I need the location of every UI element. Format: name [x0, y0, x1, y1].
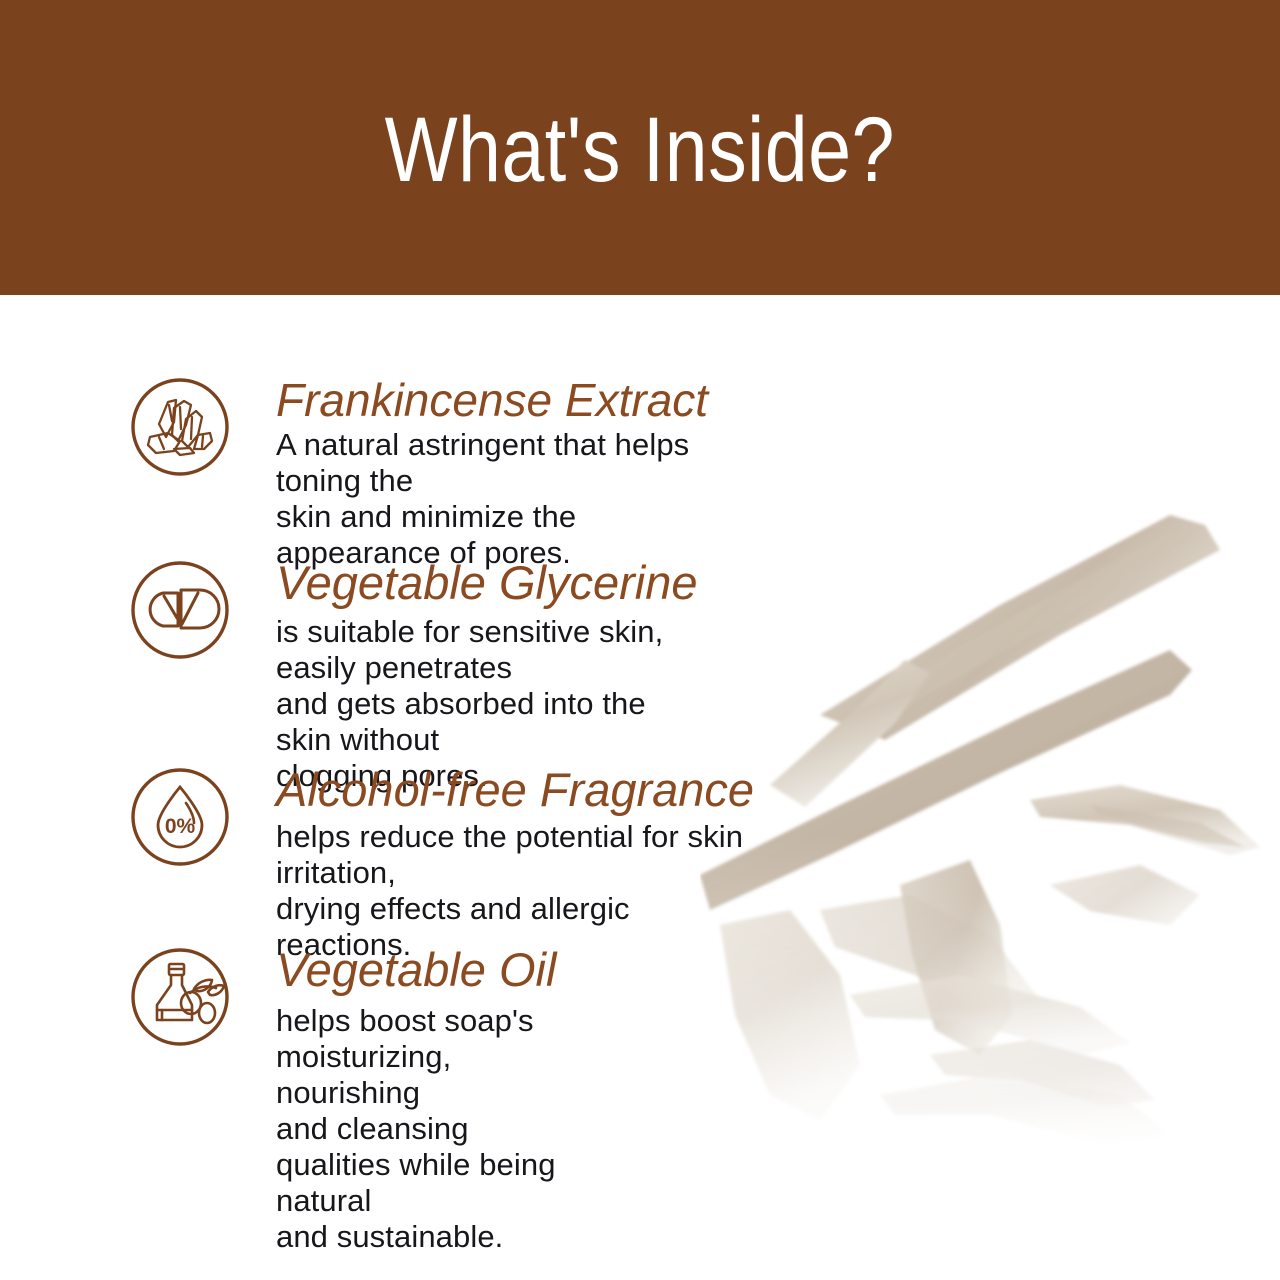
- ingredient-description: A natural astringent that helps toning t…: [276, 427, 708, 571]
- water-drop-zero-percent-icon: 0%: [128, 765, 232, 869]
- ingredient-title: Vegetable Glycerine: [276, 558, 698, 608]
- ingredient-text-block: Vegetable Oil helps boost soap's moistur…: [276, 945, 556, 1255]
- zero-percent-label: 0%: [165, 815, 196, 838]
- ingredient-text-block: Alcohol-free Fragrance helps reduce the …: [276, 765, 754, 963]
- header-banner: What's Inside?: [0, 0, 1280, 295]
- page-title: What's Inside?: [385, 104, 895, 196]
- ingredient-description: helps boost soap's moisturizing, nourish…: [276, 1003, 556, 1255]
- wood-chips-icon: [128, 375, 232, 479]
- ingredient-title: Alcohol-free Fragrance: [276, 765, 754, 815]
- ingredient-text-block: Frankincense Extract A natural astringen…: [276, 375, 708, 571]
- infographic-page: What's Inside?: [0, 0, 1280, 1280]
- ingredient-title: Frankincense Extract: [276, 375, 708, 425]
- ingredients-list: Frankincense Extract A natural astringen…: [0, 295, 1280, 1280]
- ingredient-title: Vegetable Oil: [276, 945, 556, 995]
- two-leaves-icon: [128, 558, 232, 662]
- ingredient-description: helps reduce the potential for skin irri…: [276, 819, 754, 963]
- ingredient-text-block: Vegetable Glycerine is suitable for sens…: [276, 558, 698, 794]
- oil-bottle-olive-icon: [128, 945, 232, 1049]
